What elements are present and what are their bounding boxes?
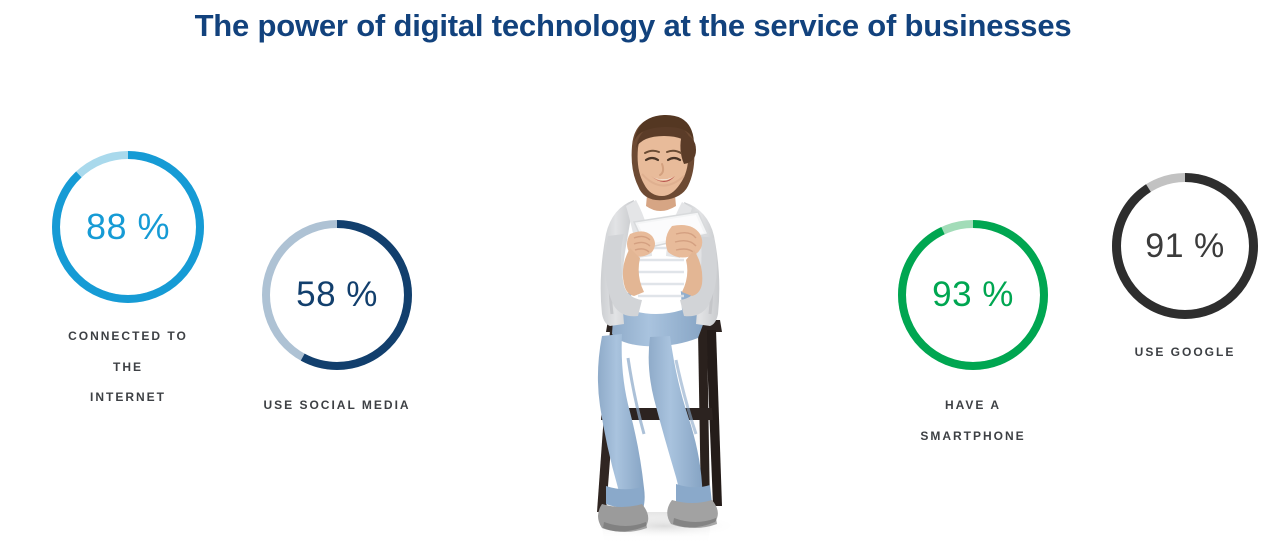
donut-value-smartphone: 93 % — [898, 220, 1048, 370]
donut-chart-google: 91 % — [1112, 173, 1258, 319]
donut-value-google: 91 % — [1112, 173, 1258, 319]
donut-chart-social-media: 58 % — [262, 220, 412, 370]
donut-value-social-media: 58 % — [262, 220, 412, 370]
donut-value-internet: 88 % — [52, 151, 204, 303]
stat-have-a-smartphone: 93 % HAVE A SMARTPHONE — [898, 220, 1048, 451]
stat-label-smartphone: HAVE A SMARTPHONE — [898, 390, 1048, 451]
page-title: The power of digital technology at the s… — [0, 8, 1266, 44]
head-and-neck — [632, 115, 696, 211]
photo-woman-with-tablet — [572, 108, 752, 548]
stat-connected-to-the-internet: 88 % CONNECTED TO THE INTERNET — [52, 151, 204, 413]
stat-label-social-media: USE SOCIAL MEDIA — [262, 390, 412, 421]
donut-chart-smartphone: 93 % — [898, 220, 1048, 370]
donut-chart-internet: 88 % — [52, 151, 204, 303]
stat-use-google: 91 % USE GOOGLE — [1112, 173, 1258, 368]
stat-use-social-media: 58 % USE SOCIAL MEDIA — [262, 220, 412, 421]
stat-label-google: USE GOOGLE — [1112, 337, 1258, 368]
stat-label-internet: CONNECTED TO THE INTERNET — [52, 321, 204, 413]
